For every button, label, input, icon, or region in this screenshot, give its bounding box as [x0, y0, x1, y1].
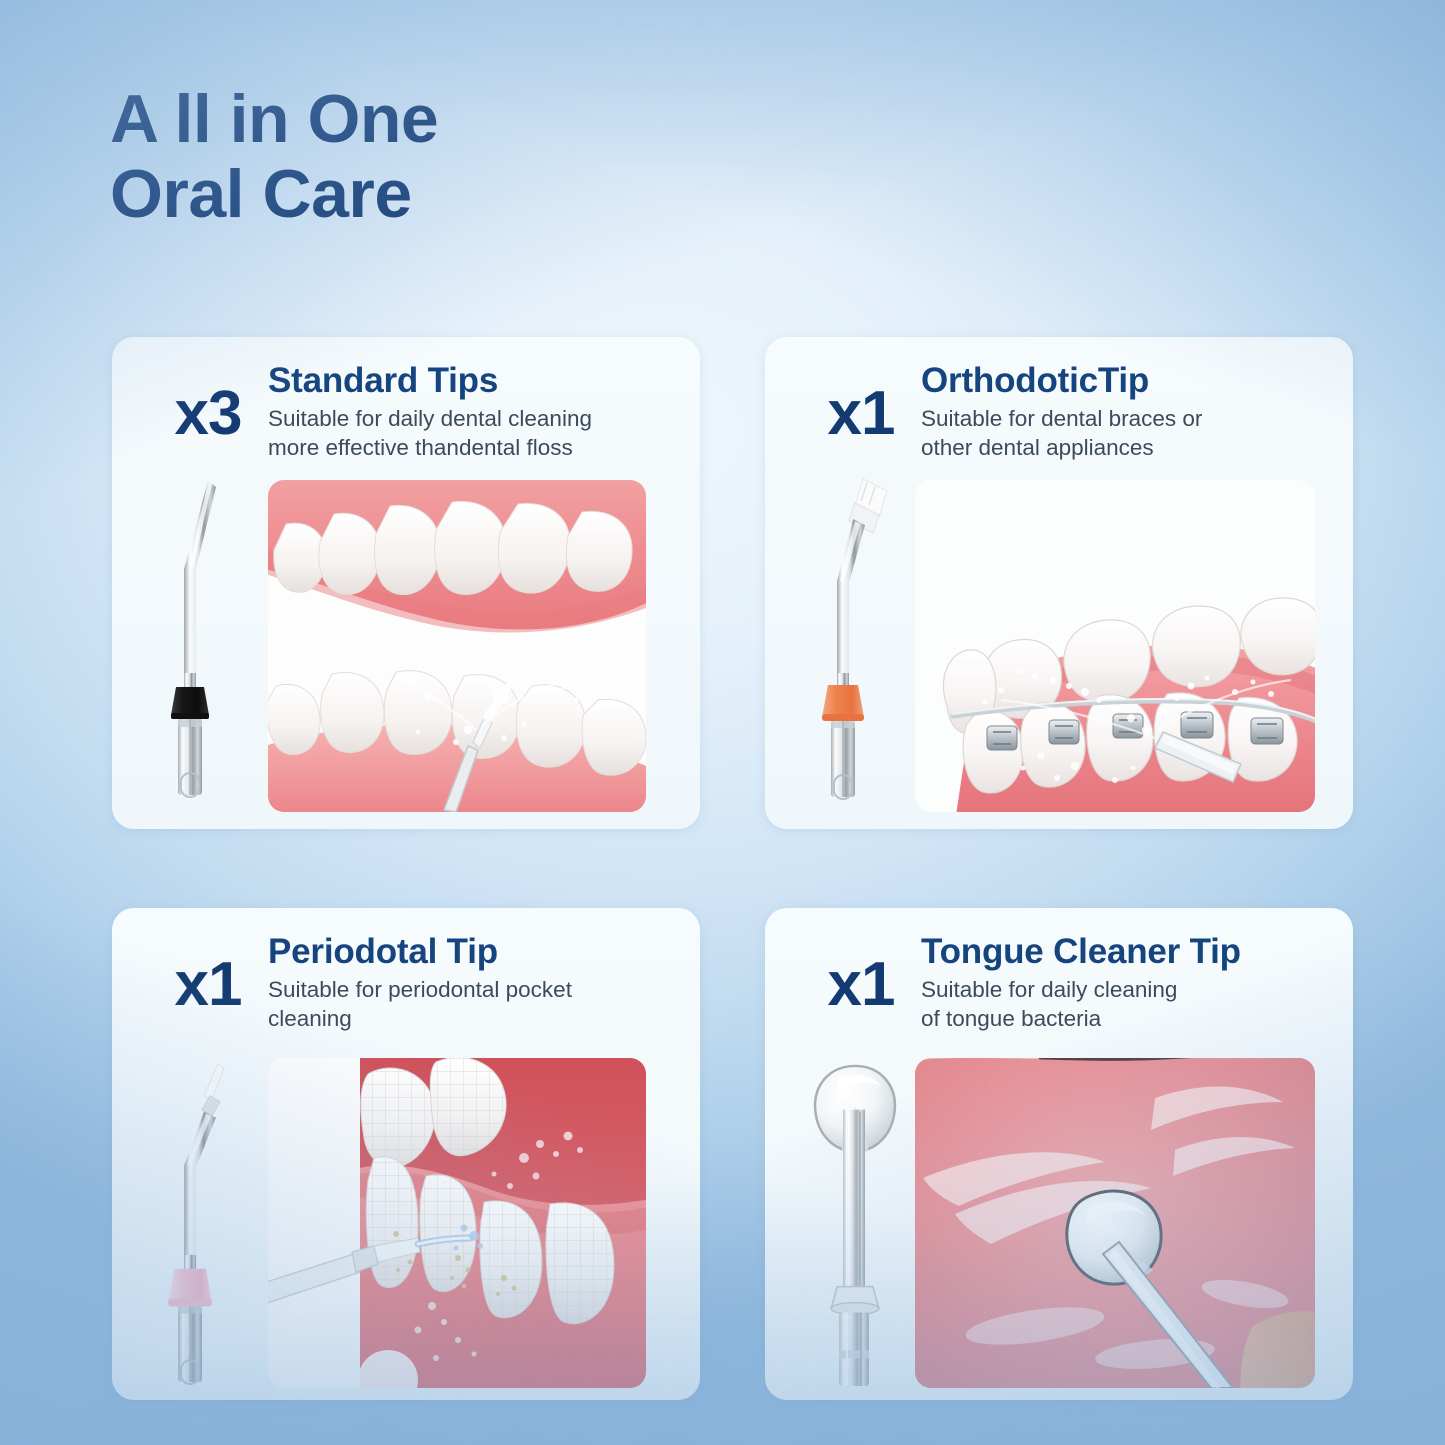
periodontal-tip-icon	[138, 1056, 266, 1394]
tip-card-periodontal[interactable]: x1 Periodotal Tip Suitable for periodont…	[112, 908, 700, 1400]
tip-card-tongue-cleaner[interactable]: x1 Tongue Cleaner Tip Suitable for daily…	[765, 908, 1353, 1400]
tip-description: Suitable for daily dental cleaning more …	[268, 405, 686, 462]
tip-description: Suitable for dental braces or other dent…	[921, 405, 1339, 462]
orthodontic-tip-photo	[915, 480, 1315, 812]
tongue-cleaner-tip-icon	[791, 1056, 919, 1394]
header-text-block: OrthodoticTip Suitable for dental braces…	[921, 361, 1339, 462]
infographic-page: A ll in One Oral Care x3 Standard Tips S…	[0, 0, 1445, 1445]
tip-description: Suitable for periodontal pocket cleaning	[268, 976, 686, 1033]
tip-card-standard[interactable]: x3 Standard Tips Suitable for daily dent…	[112, 337, 700, 829]
tip-name: Periodotal Tip	[268, 932, 686, 971]
card-header: x1 Periodotal Tip Suitable for periodont…	[112, 932, 700, 1042]
page-title: A ll in One Oral Care	[110, 82, 870, 233]
tip-card-orthodontic[interactable]: x1 OrthodoticTip Suitable for dental bra…	[765, 337, 1353, 829]
quantity-badge: x3	[154, 383, 262, 445]
quantity-badge: x1	[807, 954, 915, 1016]
tip-name: Standard Tips	[268, 361, 686, 400]
quantity-badge: x1	[154, 954, 262, 1016]
card-header: x3 Standard Tips Suitable for daily dent…	[112, 361, 700, 471]
tip-card-grid: x3 Standard Tips Suitable for daily dent…	[112, 337, 1334, 1400]
periodontal-tip-photo	[268, 1058, 646, 1388]
header-text-block: Tongue Cleaner Tip Suitable for daily cl…	[921, 932, 1339, 1033]
header-text-block: Periodotal Tip Suitable for periodontal …	[268, 932, 686, 1033]
standard-tip-photo	[268, 480, 646, 812]
orthodontic-tip-icon	[791, 473, 919, 813]
tip-name: OrthodoticTip	[921, 361, 1339, 400]
card-header: x1 OrthodoticTip Suitable for dental bra…	[765, 361, 1353, 471]
header-text-block: Standard Tips Suitable for daily dental …	[268, 361, 686, 462]
card-header: x1 Tongue Cleaner Tip Suitable for daily…	[765, 932, 1353, 1042]
standard-tip-icon	[138, 473, 266, 813]
tip-description: Suitable for daily cleaning of tongue ba…	[921, 976, 1339, 1033]
tongue-cleaner-photo	[915, 1058, 1315, 1388]
quantity-badge: x1	[807, 383, 915, 445]
tip-name: Tongue Cleaner Tip	[921, 932, 1339, 971]
